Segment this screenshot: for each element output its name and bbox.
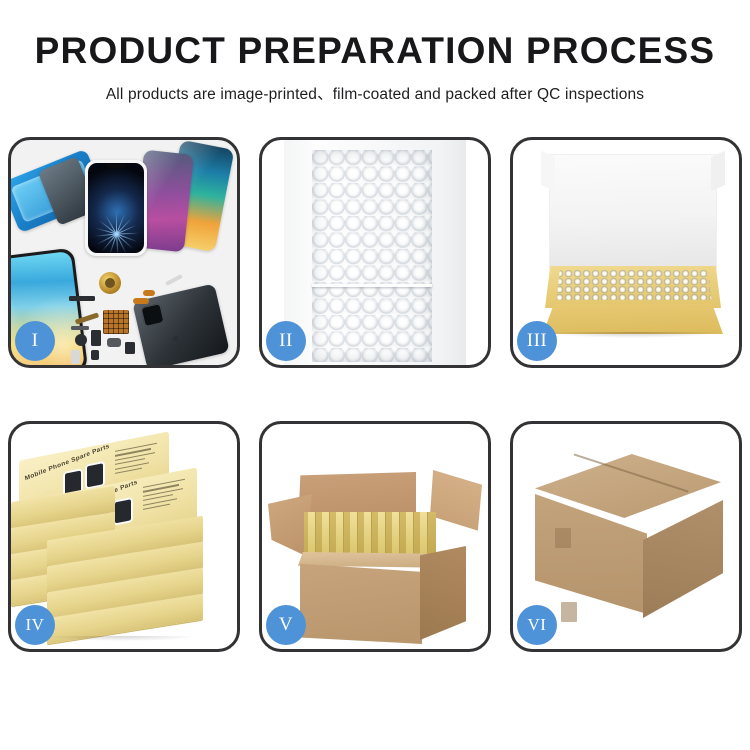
phone-screen-assembly — [85, 160, 147, 256]
screen-graphic-b2 — [115, 499, 131, 523]
part-taptic — [107, 338, 121, 347]
carton-side-face — [420, 546, 466, 640]
white-box-lid — [549, 154, 717, 270]
step-badge-5: V — [266, 605, 306, 645]
logic-board-chip — [103, 310, 129, 334]
step-badge-1: I — [15, 321, 55, 361]
process-step-3: III — [510, 137, 742, 368]
process-step-grid: I II III — [8, 137, 742, 652]
spec-lines-b — [143, 478, 189, 515]
page-subtitle: All products are image-printed、film-coat… — [0, 82, 750, 104]
part-connector — [91, 330, 101, 346]
carton-tape-upper — [555, 528, 571, 548]
process-step-4: Mobile Phone Spare Parts Mobile Phone Sp… — [8, 421, 240, 652]
part-screw-a — [173, 336, 178, 341]
stack-shadow — [47, 636, 197, 641]
part-shield — [125, 342, 135, 354]
step-badge-3: III — [517, 321, 557, 361]
process-step-5: V — [259, 421, 491, 652]
part-flex-c — [75, 312, 99, 324]
part-bracket — [71, 326, 89, 330]
spec-lines-a — [115, 442, 161, 479]
part-flex-a — [133, 298, 149, 304]
part-screw-b — [181, 346, 186, 351]
part-camera — [75, 334, 87, 346]
part-flex-b — [143, 290, 155, 296]
wallpaper-burst — [93, 189, 139, 235]
bubble-wrap-seam — [312, 284, 432, 287]
carton-front-face — [300, 562, 422, 644]
process-step-1: I — [8, 137, 240, 368]
bubble-wrap-sheet — [312, 150, 432, 362]
step-badge-4: IV — [15, 605, 55, 645]
carton-contents-boxes — [304, 512, 436, 558]
product-preparation-infographic: PRODUCT PREPARATION PROCESS All products… — [0, 0, 750, 750]
carton-flap-right — [430, 470, 482, 544]
part-button — [91, 350, 99, 360]
tray-shadow — [547, 332, 719, 338]
process-step-2: II — [259, 137, 491, 368]
speaker-part — [99, 272, 121, 294]
notch — [106, 164, 126, 168]
part-screwdriver — [165, 274, 183, 286]
process-step-6: VI — [510, 421, 742, 652]
part-strip — [69, 296, 95, 301]
header: PRODUCT PREPARATION PROCESS All products… — [0, 0, 750, 104]
bubble-wrapped-contents — [555, 270, 713, 300]
step-badge-6: VI — [517, 605, 557, 645]
kraft-tray-front — [543, 304, 723, 334]
spare-parts-cluster — [69, 276, 191, 362]
phone-display — [88, 163, 144, 253]
carton-tape-lower — [561, 602, 577, 622]
sealed-carton-side — [643, 500, 723, 618]
part-tray — [71, 350, 80, 364]
screen-graphic-a2 — [87, 463, 103, 487]
step-badge-2: II — [266, 321, 306, 361]
page-title: PRODUCT PREPARATION PROCESS — [0, 32, 750, 71]
